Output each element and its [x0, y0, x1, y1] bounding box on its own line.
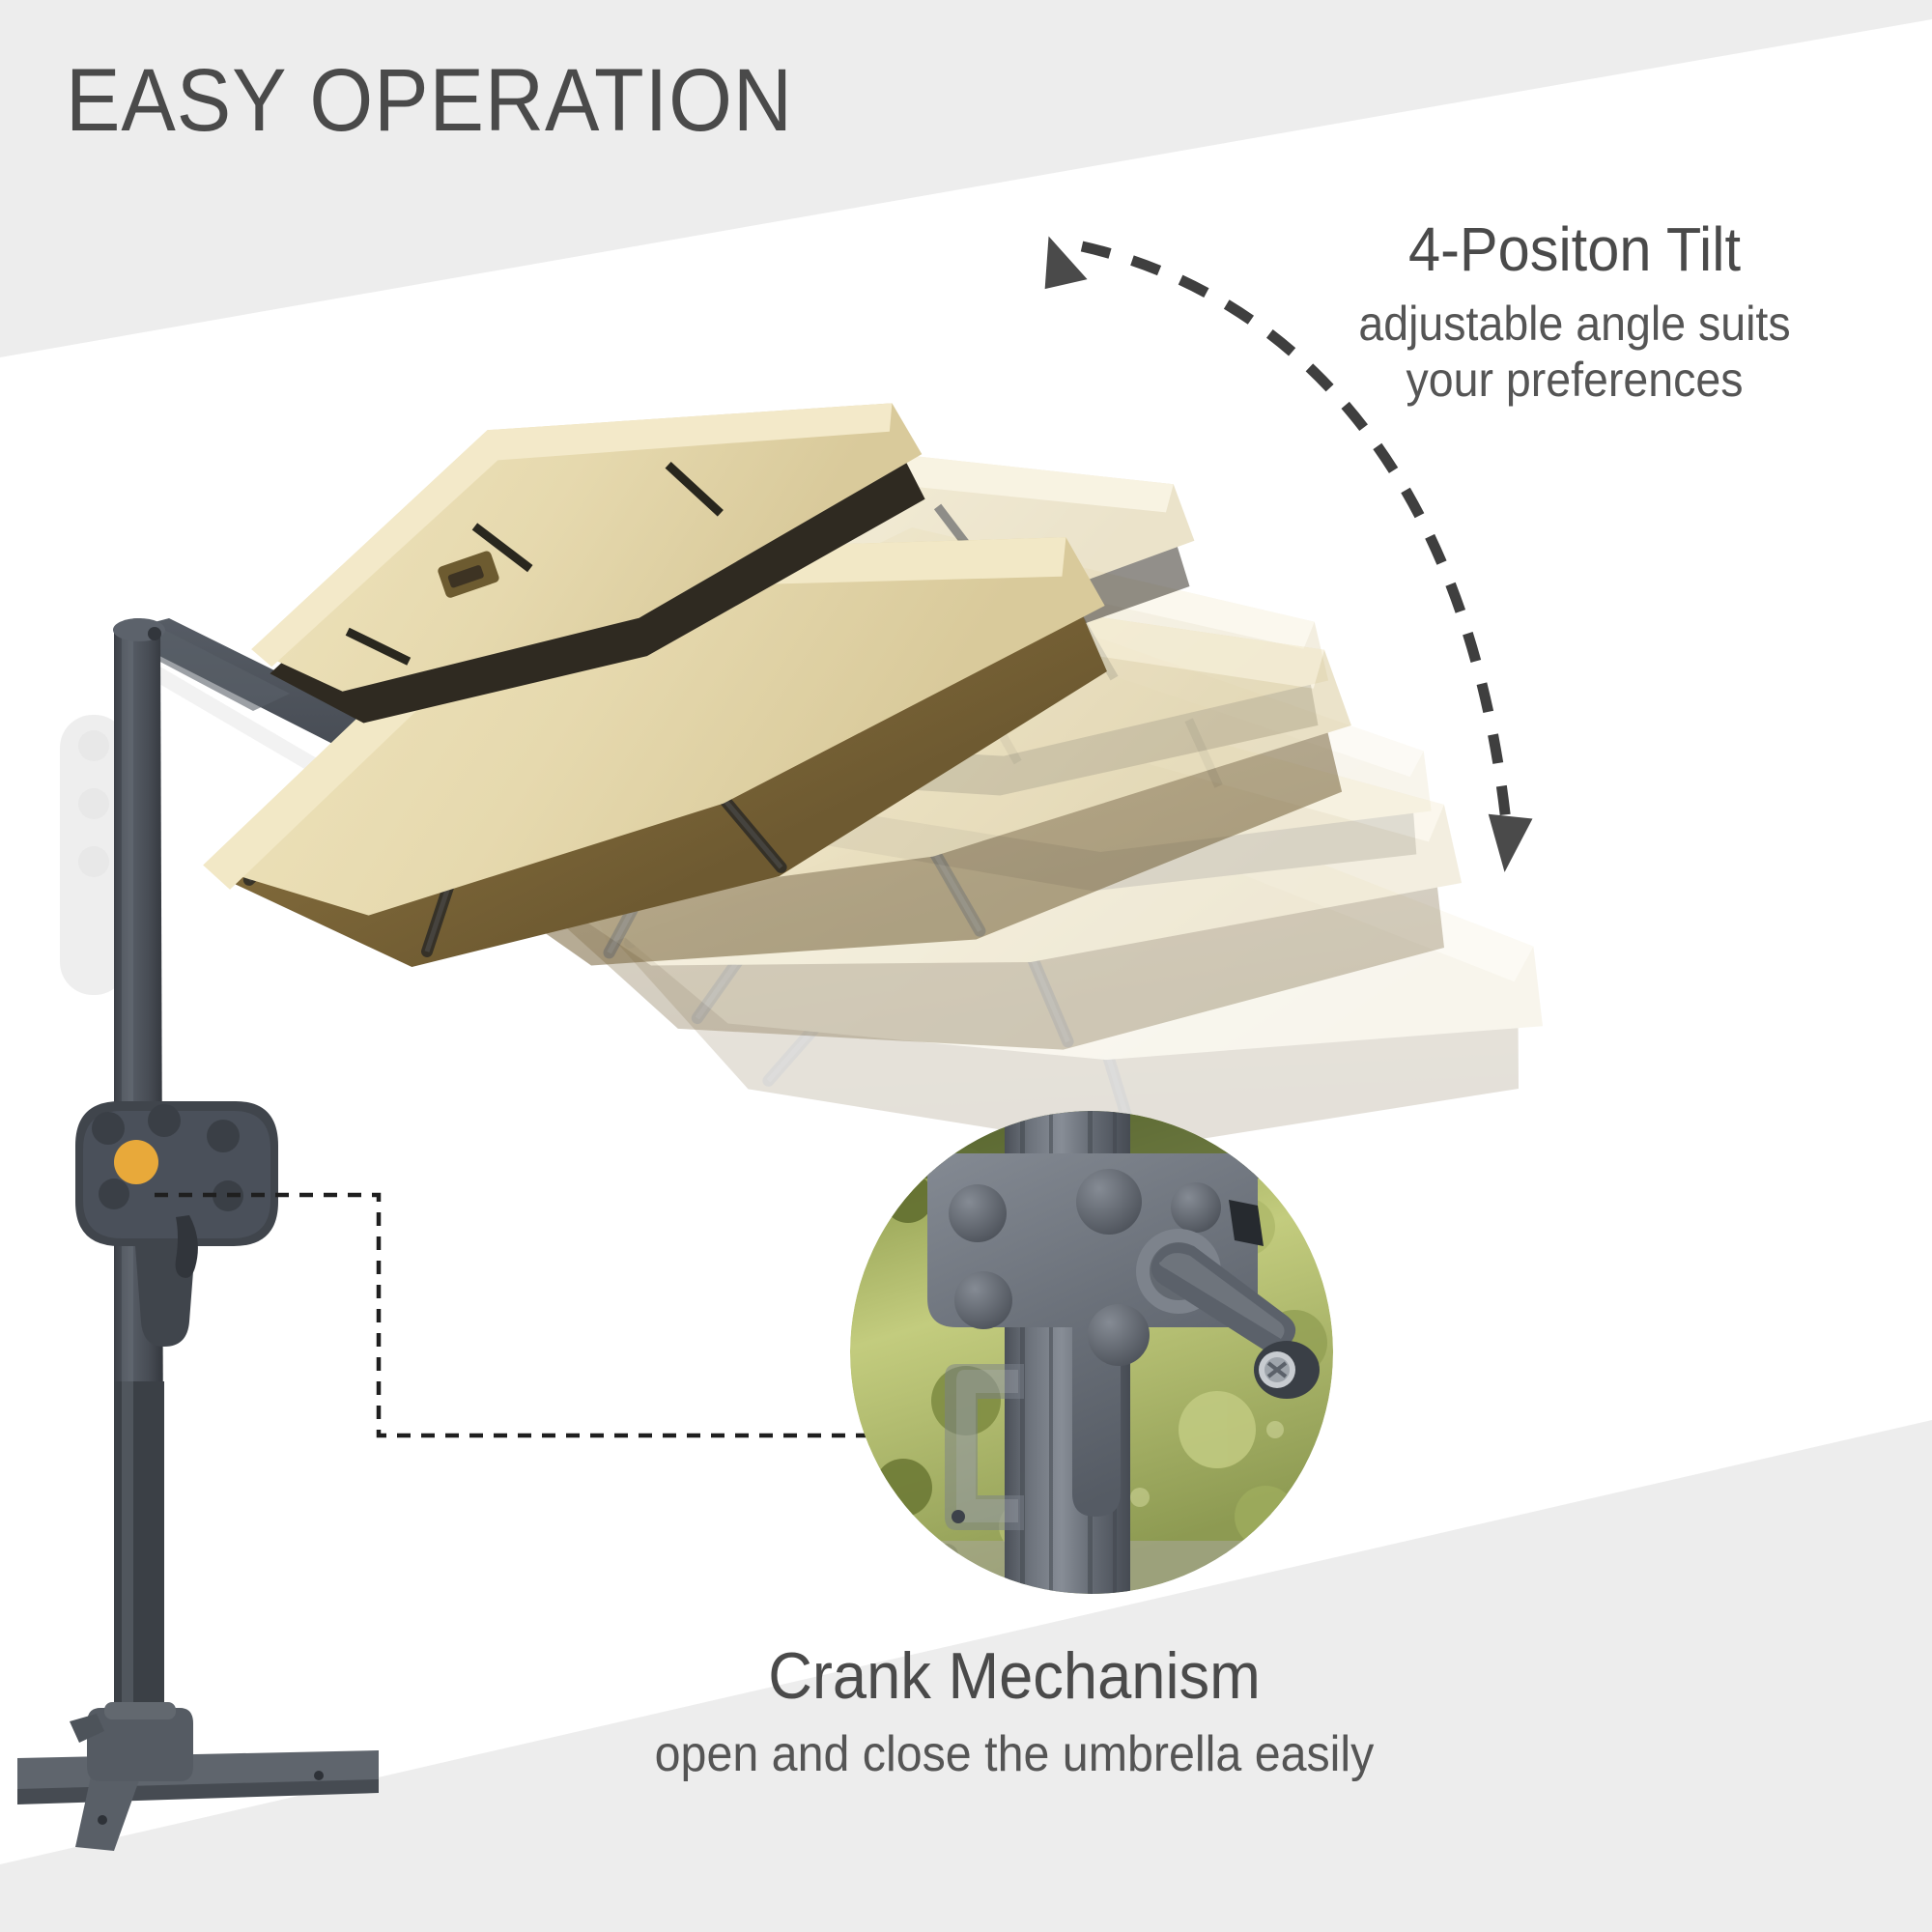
tilt-callout-subtext-line2: your preferences	[1269, 352, 1880, 408]
tilt-callout-subtext-line1: adjustable angle suits	[1269, 296, 1880, 352]
tilt-callout-subtext: adjustable angle suits your preferences	[1269, 296, 1880, 408]
crank-callout-subtext: open and close the umbrella easily	[484, 1726, 1544, 1784]
tilt-callout: 4-Positon Tilt adjustable angle suits yo…	[1246, 217, 1903, 408]
page-title: EASY OPERATION	[66, 56, 793, 145]
crank-callout: Crank Mechanism open and close the umbre…	[444, 1642, 1584, 1784]
tilt-callout-heading: 4-Positon Tilt	[1269, 217, 1880, 282]
crank-mechanism-photo	[850, 1111, 1333, 1594]
infographic-canvas: EASY OPERATION 4-Positon Tilt adjustable…	[0, 0, 1932, 1932]
crank-callout-heading: Crank Mechanism	[484, 1642, 1544, 1711]
